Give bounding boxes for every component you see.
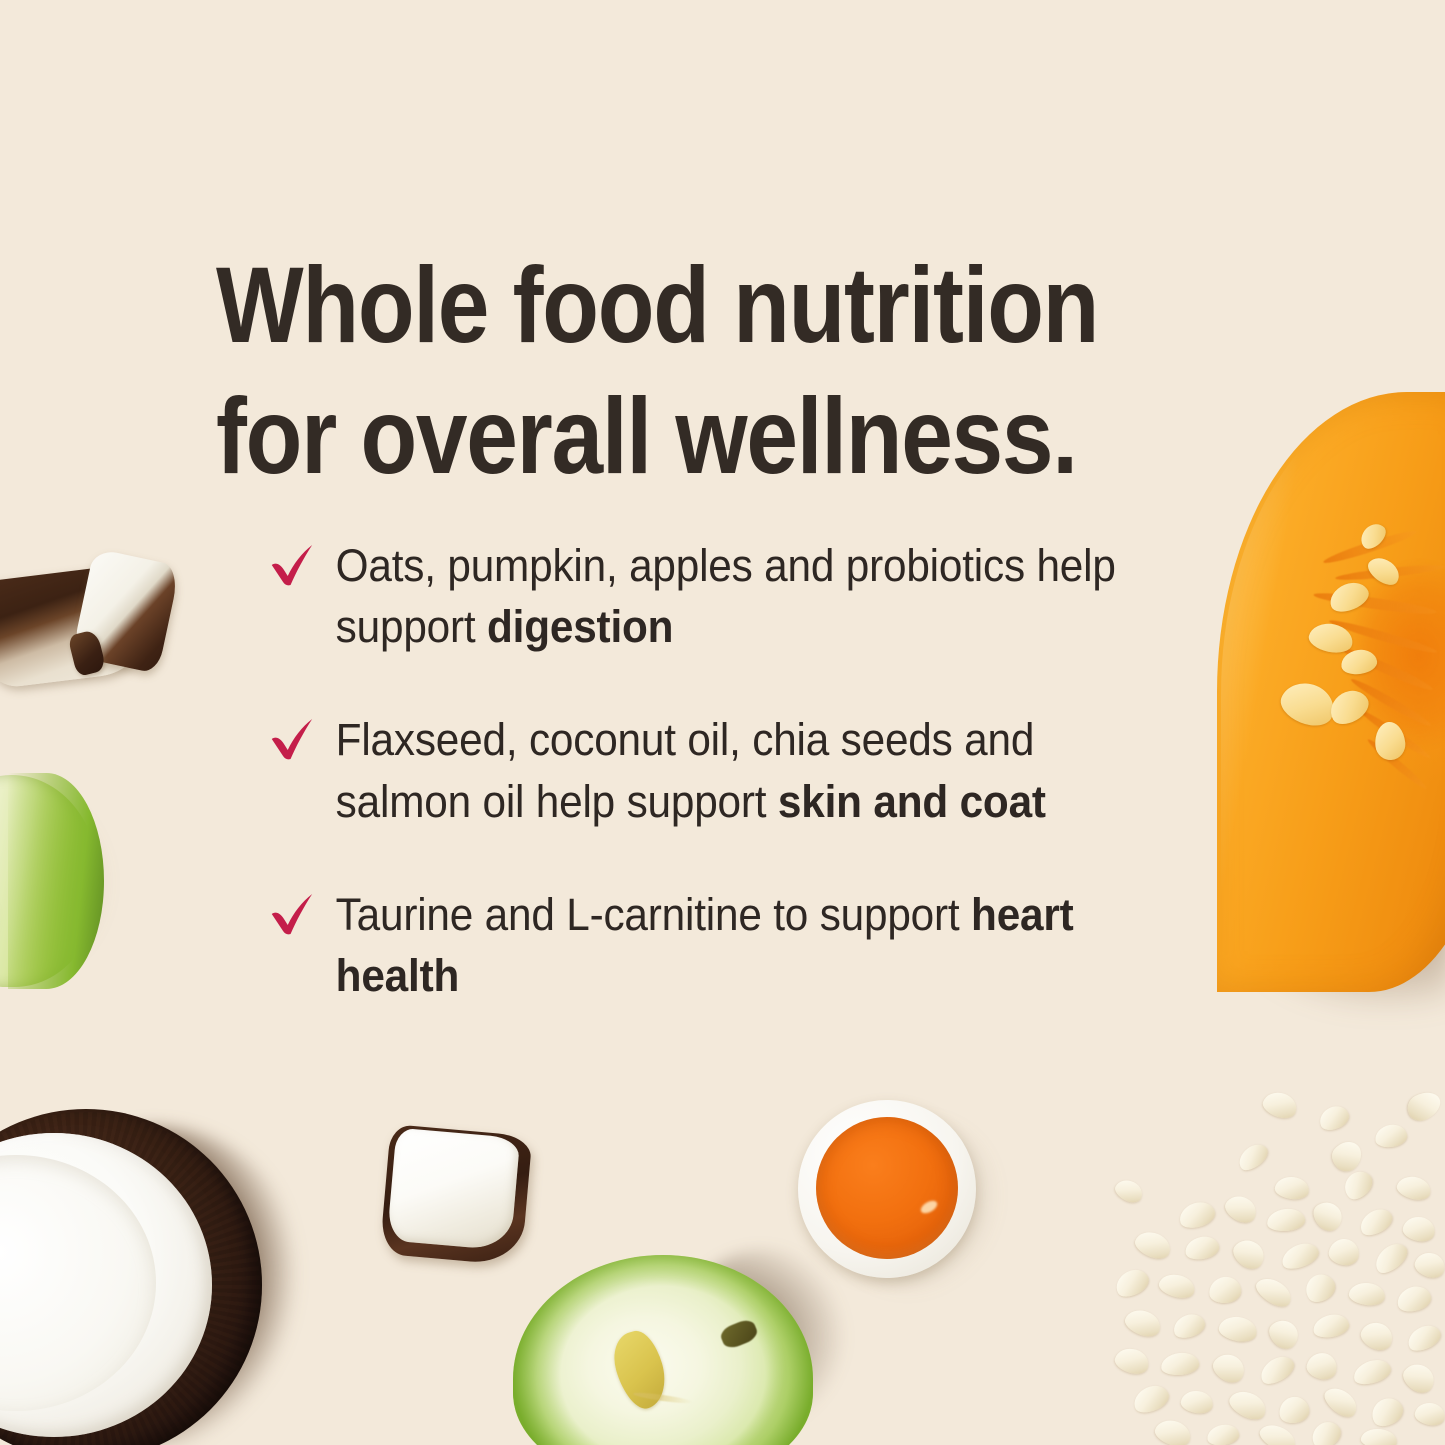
page-title: Whole food nutrition for overall wellnes… bbox=[216, 240, 1128, 501]
pumpkin-cavity bbox=[1287, 520, 1445, 820]
apple-core-line bbox=[633, 1391, 693, 1405]
green-apple-wedge-image bbox=[0, 775, 134, 990]
coconut-chunk-shell bbox=[380, 1124, 533, 1266]
bowl-oil bbox=[816, 1117, 958, 1259]
coconut-half-image bbox=[0, 1081, 310, 1445]
headline-line-2: for overall wellness. bbox=[216, 371, 1128, 502]
apple-seed bbox=[607, 1326, 673, 1414]
coconut-shadow bbox=[6, 1127, 306, 1445]
pumpkin-shadow bbox=[1241, 890, 1445, 1010]
coconut-husk bbox=[0, 1109, 262, 1445]
apple-half-shadow bbox=[675, 1249, 855, 1445]
coconut-chunk-meat bbox=[387, 1128, 520, 1251]
salmon-oil-bowl-image bbox=[798, 1100, 998, 1290]
apple-wedge-flesh bbox=[0, 775, 98, 987]
apple-half-flesh bbox=[513, 1255, 813, 1445]
pumpkin-half-image bbox=[1217, 392, 1445, 992]
list-item: Taurine and L-carnitine to support heart… bbox=[268, 884, 1142, 1006]
benefit-text: Flaxseed, coconut oil, chia seeds and sa… bbox=[336, 714, 1046, 826]
coconut-chunk-image bbox=[0, 564, 138, 689]
benefit-text: Taurine and L-carnitine to support heart… bbox=[336, 889, 1074, 1001]
bowl-shadow bbox=[828, 1122, 1004, 1290]
coconut-chunk-image bbox=[72, 548, 181, 674]
benefit-highlight: digestion bbox=[487, 601, 673, 652]
coconut-fragment-image bbox=[67, 629, 106, 677]
check-icon bbox=[268, 541, 317, 589]
apple-wedge-skin bbox=[8, 773, 104, 989]
coconut-chunk-image bbox=[380, 1124, 533, 1266]
headline-line-1: Whole food nutrition bbox=[216, 240, 1128, 371]
pumpkin-flesh bbox=[1217, 392, 1445, 992]
apple-wedge-shadow bbox=[0, 791, 110, 981]
benefit-text-lead: Oats, pumpkin, apples and probiotics hel… bbox=[336, 540, 1116, 652]
check-icon bbox=[268, 715, 317, 763]
apple-stem-well bbox=[718, 1317, 760, 1351]
coconut-husk-texture bbox=[0, 1112, 260, 1445]
apple-half-skin bbox=[513, 1255, 813, 1445]
bowl-rim bbox=[798, 1100, 976, 1278]
coconut-inner-bowl bbox=[0, 1155, 156, 1411]
list-item: Oats, pumpkin, apples and probiotics hel… bbox=[268, 535, 1142, 657]
bowl-oil-glint bbox=[919, 1198, 940, 1216]
benefit-text: Oats, pumpkin, apples and probiotics hel… bbox=[336, 540, 1116, 652]
list-item: Flaxseed, coconut oil, chia seeds and sa… bbox=[268, 709, 1142, 831]
promo-canvas: Whole food nutrition for overall wellnes… bbox=[0, 0, 1445, 1445]
rolled-oats-image bbox=[1115, 1085, 1445, 1445]
pumpkin-rind bbox=[1221, 394, 1445, 990]
benefits-list: Oats, pumpkin, apples and probiotics hel… bbox=[268, 535, 1198, 1006]
green-apple-half-image bbox=[505, 1245, 845, 1445]
benefit-text-lead: Taurine and L-carnitine to support bbox=[336, 889, 971, 940]
benefit-highlight: skin and coat bbox=[778, 776, 1046, 827]
check-icon bbox=[268, 890, 317, 938]
coconut-flesh bbox=[0, 1133, 212, 1437]
